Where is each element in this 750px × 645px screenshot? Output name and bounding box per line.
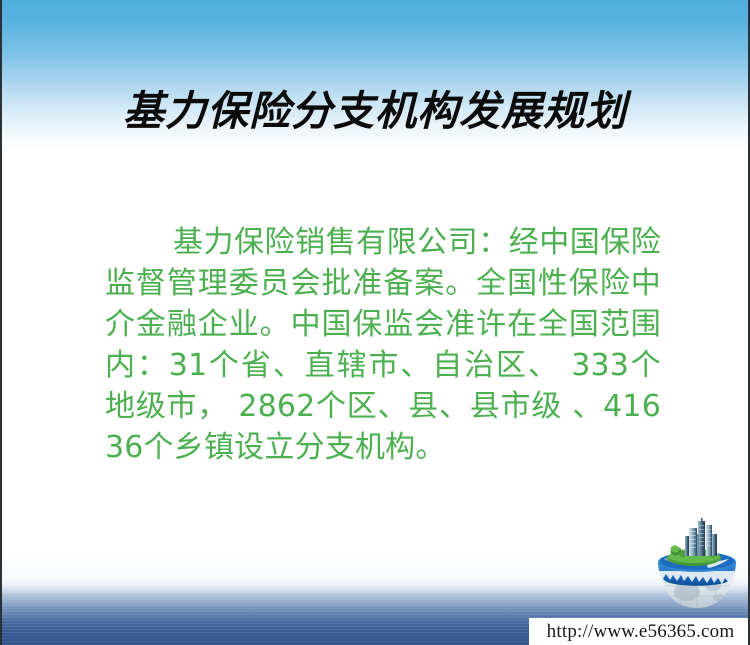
slide-canvas: 基力保险分支机构发展规划 基力保险销售有限公司：经中国保险监督管理委员会批准备案…: [0, 0, 750, 645]
watermark-url-text: http://www.e56365.com: [547, 621, 735, 643]
watermark-url-box: http://www.e56365.com: [529, 618, 750, 645]
earth-globe-city-icon: [645, 516, 749, 612]
ocean-horizon-haze: [2, 555, 748, 595]
page-title: 基力保险分支机构发展规划: [2, 89, 748, 134]
body-paragraph: 基力保险销售有限公司：经中国保险监督管理委员会批准备案。全国性保险中介金融企业。…: [105, 222, 661, 468]
globe-graphic: [645, 516, 749, 612]
